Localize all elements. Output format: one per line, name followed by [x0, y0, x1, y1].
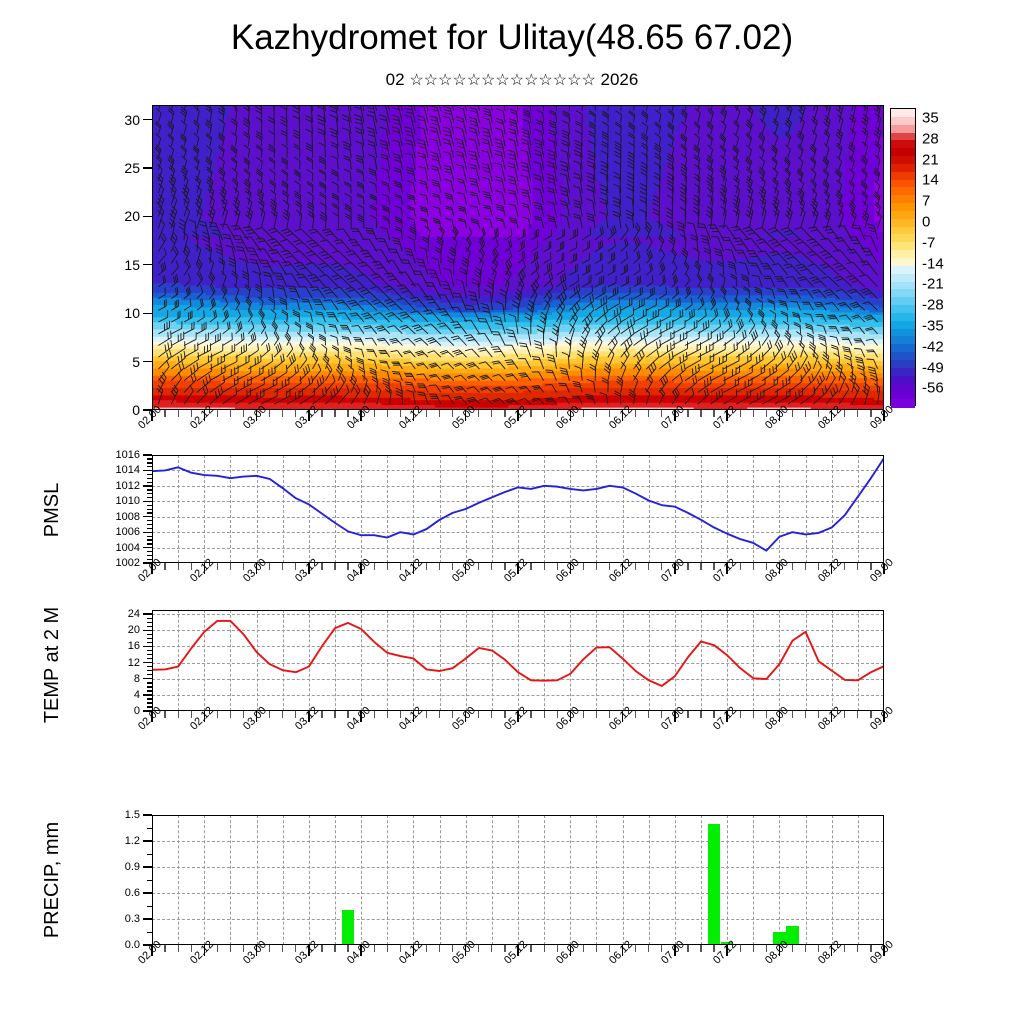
- precip-bar: [721, 942, 733, 945]
- grid-line-vertical: [649, 815, 650, 945]
- precip-bar: [773, 932, 785, 945]
- colorbar-tick-label: -49: [922, 359, 944, 376]
- grid-line-vertical: [727, 815, 728, 945]
- precip-axis-title: PRECIP, mm: [41, 780, 63, 980]
- grid-line-vertical: [204, 815, 205, 945]
- colorbar-tick-label: 35: [922, 110, 939, 127]
- grid-line-vertical: [440, 815, 441, 945]
- grid-line-vertical: [518, 815, 519, 945]
- grid-line-vertical: [544, 815, 545, 945]
- precip-bar: [708, 824, 720, 945]
- temp-at-2m-series: [152, 610, 884, 711]
- grid-line-vertical: [230, 815, 231, 945]
- grid-line-vertical: [387, 815, 388, 945]
- colorbar-tick-label: -7: [922, 234, 935, 251]
- grid-line-vertical: [283, 815, 284, 945]
- precip-bar: [786, 926, 798, 945]
- precip-panel: [152, 815, 884, 945]
- colorbar-tick-label: -21: [922, 276, 944, 293]
- temp-axis-title: TEMP at 2 M: [41, 570, 63, 760]
- grid-line-vertical: [623, 815, 624, 945]
- colorbar-tick-label: 21: [922, 151, 939, 168]
- grid-line-vertical: [596, 815, 597, 945]
- grid-line-vertical: [858, 815, 859, 945]
- grid-line-vertical: [492, 815, 493, 945]
- grid-line-vertical: [806, 815, 807, 945]
- colorbar-tick-label: -14: [922, 255, 944, 272]
- grid-line-vertical: [675, 815, 676, 945]
- grid-line-vertical: [832, 815, 833, 945]
- grid-line-vertical: [335, 815, 336, 945]
- colorbar-tick-label: 7: [922, 193, 930, 210]
- temp-panel: [152, 610, 884, 711]
- colorbar-tick-label: 0: [922, 214, 930, 231]
- precip-plot-area: [152, 815, 884, 945]
- colorbar-tick-label: -28: [922, 297, 944, 314]
- grid-line-vertical: [466, 815, 467, 945]
- grid-line-vertical: [257, 815, 258, 945]
- pmsl-panel: [152, 455, 884, 563]
- temp-plot-area: [152, 610, 884, 711]
- grid-line-vertical: [413, 815, 414, 945]
- colorbar-tick-label: 28: [922, 130, 939, 147]
- grid-line-vertical: [361, 815, 362, 945]
- colorbar-tick-label: 14: [922, 172, 939, 189]
- grid-line-vertical: [701, 815, 702, 945]
- grid-line-vertical: [570, 815, 571, 945]
- grid-line-vertical: [753, 815, 754, 945]
- colorbar-tick-label: -42: [922, 338, 944, 355]
- precip-bar: [342, 910, 354, 945]
- colorbar-tick-label: -35: [922, 318, 944, 335]
- pmsl-series: [152, 455, 884, 563]
- grid-line-vertical: [779, 815, 780, 945]
- colorbar-tick-label: -56: [922, 380, 944, 397]
- grid-line-vertical: [178, 815, 179, 945]
- pmsl-plot-area: [152, 455, 884, 563]
- pmsl-axis-title: PMSL: [41, 455, 63, 565]
- grid-line-vertical: [309, 815, 310, 945]
